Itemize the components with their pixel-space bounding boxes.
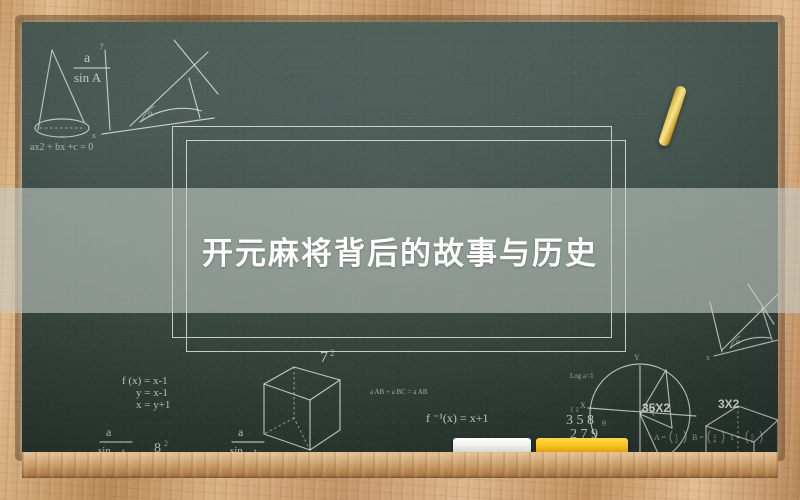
fraction-a-sin-a-bottom-center: a sin A [230, 425, 264, 454]
svg-text:9: 9 [602, 419, 606, 428]
svg-text:x: x [92, 131, 96, 140]
svg-text:2: 2 [675, 439, 678, 445]
svg-text:5: 5 [751, 434, 754, 440]
svg-text:1: 1 [675, 434, 678, 440]
svg-text:o: o [736, 337, 740, 346]
matrix-dim-35x2: 35X2 [642, 401, 670, 415]
svg-text:4: 4 [713, 439, 716, 445]
svg-text:A =: A = [654, 433, 666, 442]
log-small-label: Log a=1 [570, 372, 594, 380]
svg-text:x = y+1: x = y+1 [136, 399, 170, 411]
svg-text:a: a [106, 425, 112, 439]
svg-text:1 1: 1 1 [570, 406, 579, 414]
svg-text:x: x [706, 353, 710, 362]
cube-wireframe-right [706, 406, 778, 454]
svg-text:a: a [238, 425, 244, 439]
quadratic-equation: ax2 + bx +c = 0 [30, 142, 93, 153]
fraction-a-sin-a-bottom-left: a sin A [98, 425, 132, 454]
svg-text:B =: B = [692, 433, 704, 442]
svg-text:1 =: 1 = [730, 433, 741, 442]
svg-text:f (x) = x-1: f (x) = x-1 [122, 375, 168, 387]
matrix-dim-3x2: 3X2 [718, 397, 740, 411]
ledge-wood-grain [22, 452, 778, 478]
cube-wireframe-center [264, 367, 340, 450]
svg-text:sin A: sin A [74, 70, 102, 85]
svg-text:3: 3 [713, 434, 716, 440]
svg-text:y: y [100, 40, 104, 49]
matrix-expression: A = 1 2 B = 3 4 1 = 5 6 [654, 431, 762, 445]
svg-text:a: a [84, 51, 91, 66]
svg-text:Y: Y [634, 353, 640, 362]
inverse-function: f ⁻¹(x) = x+1 [426, 411, 488, 425]
cone-diagram [35, 50, 89, 137]
angle-axis-diagram-top: y x o [92, 40, 218, 140]
page-title: 开元麻将背后的故事与历史 [202, 228, 598, 273]
svg-text:6: 6 [751, 439, 754, 445]
svg-text:3 5 8: 3 5 8 [566, 413, 594, 428]
fraction-a-sin-a-top: a sin A [74, 51, 110, 85]
vector-identity: a AB + a BC = a AB [370, 388, 428, 396]
svg-text:2: 2 [164, 439, 168, 448]
title-container: 开元麻将背后的故事与历史 [0, 188, 800, 313]
banner-stage: a sin A ax2 + bx +c = 0 y x o [0, 0, 800, 500]
function-equations: f (x) = x-1 y = x-1 x = y+1 [122, 375, 170, 411]
svg-text:o: o [148, 108, 153, 118]
svg-text:X: X [580, 401, 586, 410]
chalk-ledge [22, 452, 778, 478]
svg-text:y = x-1: y = x-1 [136, 387, 168, 399]
